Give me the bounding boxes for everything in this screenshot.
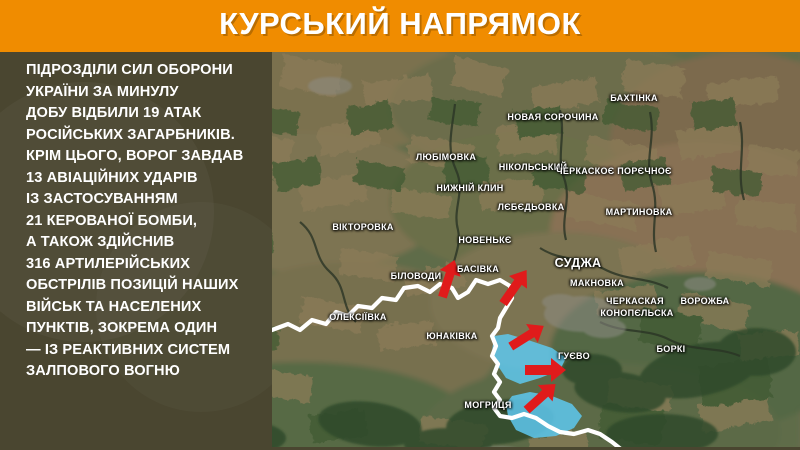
report-line: ІЗ ЗАСТОСУВАННЯМ <box>26 189 272 211</box>
report-line: — ІЗ РЕАКТИВНИХ СИСТЕМ <box>26 340 272 362</box>
report-line: А ТАКОЖ ЗДІЙСНИВ <box>26 232 272 254</box>
report-line: 316 АРТИЛЕРІЙСЬКИХ <box>26 254 272 276</box>
report-line: ВІЙСЬК ТА НАСЕЛЕНИХ <box>26 297 272 319</box>
report-line: ПУНКТІВ, ЗОКРЕМА ОДИН <box>26 318 272 340</box>
report-text: ПІДРОЗДІЛИ СИЛ ОБОРОНИ УКРАЇНИ ЗА МИНУЛУ… <box>26 60 272 383</box>
infographic-root: БАХТІНКА НОВАЯ СОРОЧИНА ЛЮБІМОВКА НІКОЛЬ… <box>0 0 800 450</box>
report-line: УКРАЇНИ ЗА МИНУЛУ <box>26 82 272 104</box>
header-banner: КУРСЬКИЙ НАПРЯМОК <box>0 0 800 52</box>
report-line: КРІМ ЦЬОГО, ВОРОГ ЗАВДАВ <box>26 146 272 168</box>
report-text-panel: ПІДРОЗДІЛИ СИЛ ОБОРОНИ УКРАЇНИ ЗА МИНУЛУ… <box>0 52 272 450</box>
report-line: РОСІЙСЬКИХ ЗАГАРБНИКІВ. <box>26 125 272 147</box>
report-line: ЗАЛПОВОГО ВОГНЮ <box>26 361 272 383</box>
report-line: ПІДРОЗДІЛИ СИЛ ОБОРОНИ <box>26 60 272 82</box>
page-title: КУРСЬКИЙ НАПРЯМОК <box>0 6 800 42</box>
report-line: 21 КЕРОВАНОЇ БОМБИ, <box>26 211 272 233</box>
report-line: 13 АВІАЦІЙНИХ УДАРІВ <box>26 168 272 190</box>
report-line: ОБСТРІЛІВ ПОЗИЦІЙ НАШИХ <box>26 275 272 297</box>
report-line: ДОБУ ВІДБИЛИ 19 АТАК <box>26 103 272 125</box>
